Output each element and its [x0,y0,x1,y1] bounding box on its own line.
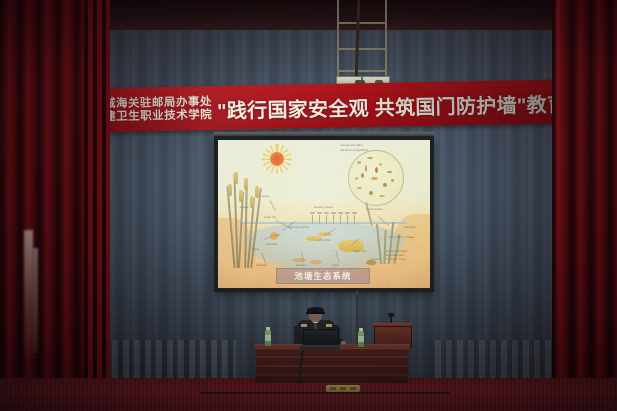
projector-bracket-left [337,0,339,78]
floor-cable [200,392,450,394]
slide-label: small fish [318,239,331,243]
projection-screen-surface: animal and plant plankton (magnified) re… [218,140,430,288]
banner-org-line-2: 福建卫生职业技术学院 [92,110,212,124]
bottle-label [265,335,271,341]
slide-label: bacteria [256,264,267,268]
reed-cluster [226,158,266,268]
magnified-plankton-circle [348,150,404,206]
slide-label: plankton [404,226,416,230]
projector-crossbar-mid [337,48,387,50]
slide-label: sedge [240,206,248,210]
water-bottle [265,330,271,346]
curtain-right [552,0,617,384]
projection-screen-frame: animal and plant plankton (magnified) re… [214,136,434,292]
sun-core [270,152,284,166]
curtain-light-gap-secondary [33,248,38,353]
projector-crossbar-upper [337,22,387,24]
slide-label: reeds [262,195,270,199]
event-banner: 榕城海关驻邮局办事处 福建卫生职业技术学院 "践行国家安全观 共筑国门防护墙"教… [86,79,557,132]
slide-label: water lily [264,216,276,220]
laptop-keyboard [300,345,340,349]
curtain-light-gap [24,230,33,360]
slide-label: snail [274,234,280,238]
slide-label: bacteria, fungi [386,258,405,262]
microphone-icon [388,313,394,317]
power-strip [326,385,360,392]
slide-label: pond weeds [366,208,383,212]
slide-caption-box: 池塘生态系统 [276,268,370,284]
curtain-right-highlight [556,0,560,384]
slide-label: plankton (magnified) [340,149,368,153]
uniform-cap-brim [306,312,325,314]
auditorium-photo: 榕城海关驻邮局办事处 福建卫生职业技术学院 "践行国家安全观 共筑国门防护墙"教… [0,0,617,411]
floating-plants [310,212,360,224]
slide-label: scum (film) of algae [388,236,415,240]
bottle-cap [266,327,270,330]
slide-label: bacteria [266,243,277,247]
bottle-label [358,336,364,342]
shrimp [310,260,322,264]
bottle-cap [359,328,363,331]
slide-label: floating plants [314,206,333,210]
uniform-insignia-left [301,324,307,327]
projector-crossbar-lower [337,70,387,72]
banner-main-title: "践行国家安全观 共筑国门防护墙"教育宣传活动 [217,86,557,123]
water-bottle [358,331,364,347]
slide-label: algae [252,248,260,252]
uniform-insignia-right [326,324,332,327]
slide-label: large fish [354,250,367,254]
slide-caption-text: 池塘生态系统 [294,270,351,282]
slide-label: mussel [370,258,380,262]
curtain-left-edge-fold [84,0,110,384]
sun-icon [266,148,288,170]
projector-bracket-right [385,0,387,78]
table-skirt-texture [256,349,408,383]
presentation-table [256,348,408,383]
